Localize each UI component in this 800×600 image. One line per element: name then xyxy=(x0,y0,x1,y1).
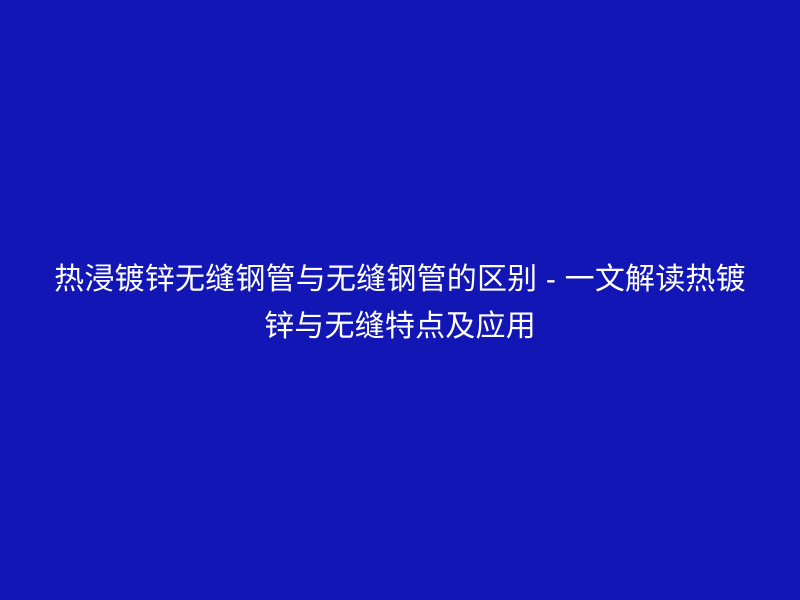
title-slide: 热浸镀锌无缝钢管与无缝钢管的区别 - 一文解读热镀锌与无缝特点及应用 xyxy=(0,0,800,600)
slide-title: 热浸镀锌无缝钢管与无缝钢管的区别 - 一文解读热镀锌与无缝特点及应用 xyxy=(50,256,750,350)
title-block: 热浸镀锌无缝钢管与无缝钢管的区别 - 一文解读热镀锌与无缝特点及应用 xyxy=(50,256,750,350)
